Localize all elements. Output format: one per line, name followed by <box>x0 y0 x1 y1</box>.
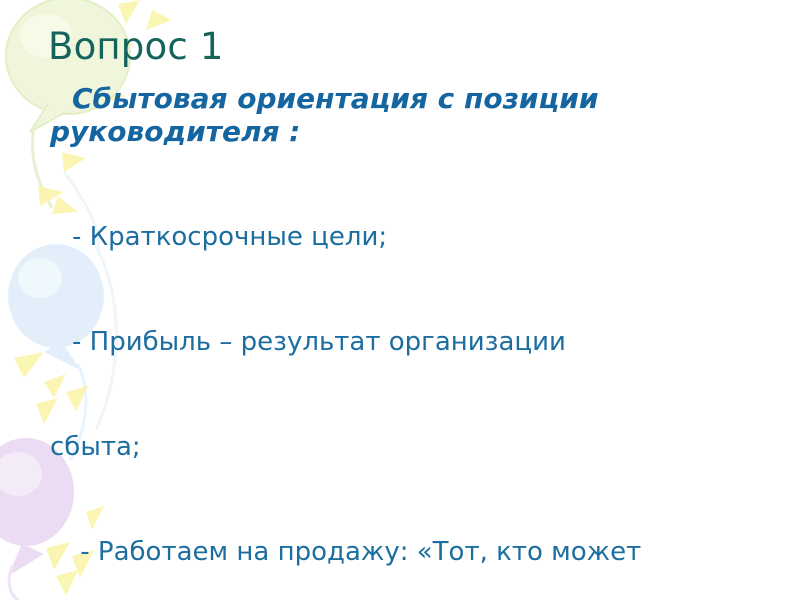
list-item: - Краткосрочные цели; <box>72 220 792 255</box>
presentation-slide: Вопрос 1 Сбытовая ориентация с позиции р… <box>0 0 800 600</box>
slide-content: Вопрос 1 Сбытовая ориентация с позиции р… <box>0 0 800 600</box>
list-item: сбыта; <box>50 430 792 465</box>
subtitle-line-2: руководителя : <box>50 115 772 148</box>
list-item: - Работаем на продажу: «Тот, кто может <box>72 535 792 570</box>
page-title: Вопрос 1 <box>48 26 224 68</box>
subtitle-line-1: Сбытовая ориентация с позиции <box>72 82 772 115</box>
bullet-list: - Краткосрочные цели; - Прибыль – резуль… <box>72 150 792 600</box>
slide-subtitle: Сбытовая ориентация с позиции руководите… <box>72 82 772 148</box>
list-item: - Прибыль – результат организации <box>72 325 792 360</box>
